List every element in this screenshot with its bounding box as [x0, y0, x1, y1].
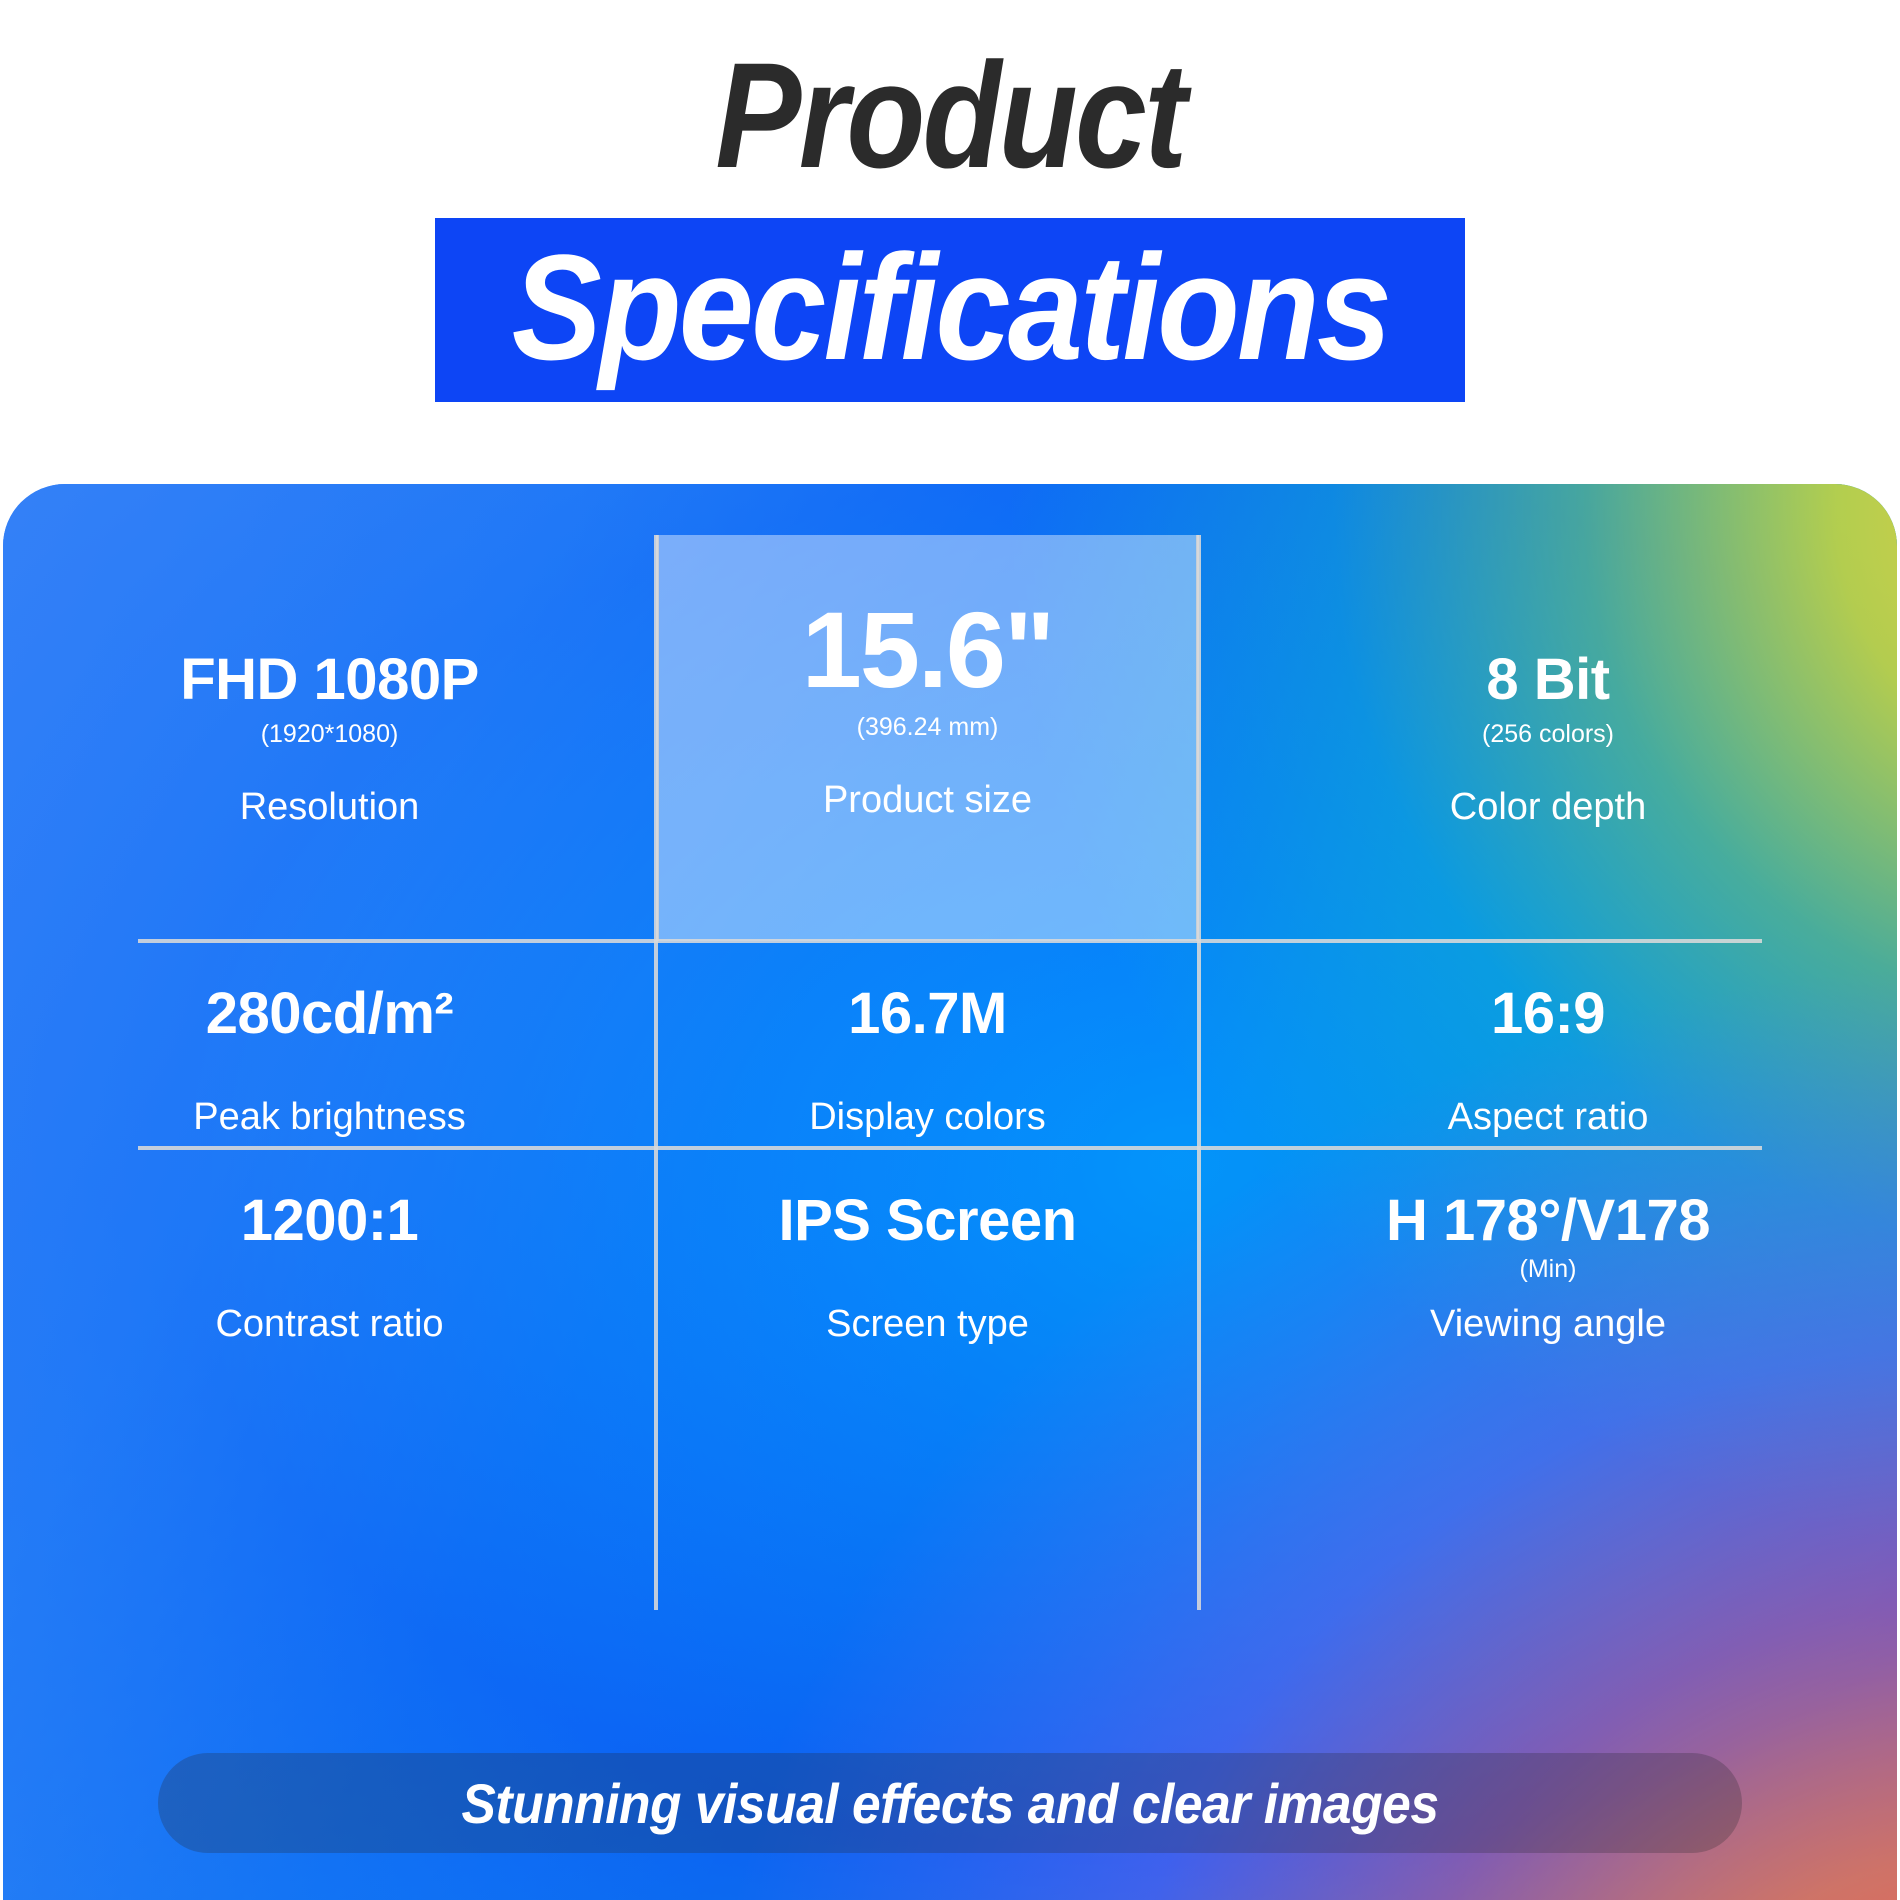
spec-cell-display-colors: 16.7M Display colors [656, 941, 1199, 1148]
spec-cell-viewing-angle: H 178°/V178 (Min) Viewing angle [1199, 1148, 1897, 1355]
spec-cell-aspect-ratio: 16:9 Aspect ratio [1199, 941, 1897, 1148]
spec-cell-resolution: FHD 1080P (1920*1080) Resolution [3, 484, 656, 941]
page-header: Product Specifications [0, 0, 1900, 402]
specifications-banner: Specifications [435, 218, 1466, 402]
spec-cell-screen-type: IPS Screen Screen type [656, 1148, 1199, 1355]
spec-cell-peak-brightness: 280cd/m² Peak brightness [3, 941, 656, 1148]
page-title: Product [133, 40, 1767, 190]
title-banner-wrapper: Specifications [0, 218, 1900, 402]
spec-sub-product-size: (396.24 mm) [656, 712, 1199, 742]
spec-label-color-depth: Color depth [1199, 785, 1897, 831]
spec-value-product-size: 15.6" [656, 596, 1199, 704]
spec-label-viewing-angle: Viewing angle [1199, 1302, 1897, 1348]
spec-label-display-colors: Display colors [656, 1095, 1199, 1141]
spec-value-peak-brightness: 280cd/m² [3, 984, 656, 1045]
spec-sub-resolution: (1920*1080) [3, 719, 656, 749]
spec-card: FHD 1080P (1920*1080) Resolution 15.6" (… [3, 484, 1897, 1900]
spec-label-contrast-ratio: Contrast ratio [3, 1302, 656, 1348]
spec-value-contrast-ratio: 1200:1 [3, 1191, 656, 1252]
tagline-pill: Stunning visual effects and clear images [158, 1753, 1742, 1853]
specifications-banner-text: Specifications [511, 232, 1388, 382]
spec-value-viewing-angle: H 178°/V178 [1199, 1191, 1897, 1252]
spec-sub-color-depth: (256 colors) [1199, 719, 1897, 749]
spec-label-product-size: Product size [656, 778, 1199, 824]
spec-value-resolution: FHD 1080P [3, 650, 656, 711]
spec-value-aspect-ratio: 16:9 [1199, 984, 1897, 1045]
spec-value-display-colors: 16.7M [656, 984, 1199, 1045]
spec-value-screen-type: IPS Screen [656, 1191, 1199, 1252]
spec-value-color-depth: 8 Bit [1199, 650, 1897, 711]
spec-label-screen-type: Screen type [656, 1302, 1199, 1348]
spec-label-resolution: Resolution [3, 785, 656, 831]
spec-cell-product-size: 15.6" (396.24 mm) Product size [656, 484, 1199, 941]
spec-cell-color-depth: 8 Bit (256 colors) Color depth [1199, 484, 1897, 941]
spec-cell-contrast-ratio: 1200:1 Contrast ratio [3, 1148, 656, 1355]
spec-label-aspect-ratio: Aspect ratio [1199, 1095, 1897, 1141]
spec-label-peak-brightness: Peak brightness [3, 1095, 656, 1141]
spec-sub-viewing-angle: (Min) [1199, 1254, 1897, 1284]
tagline-text: Stunning visual effects and clear images [461, 1771, 1438, 1836]
